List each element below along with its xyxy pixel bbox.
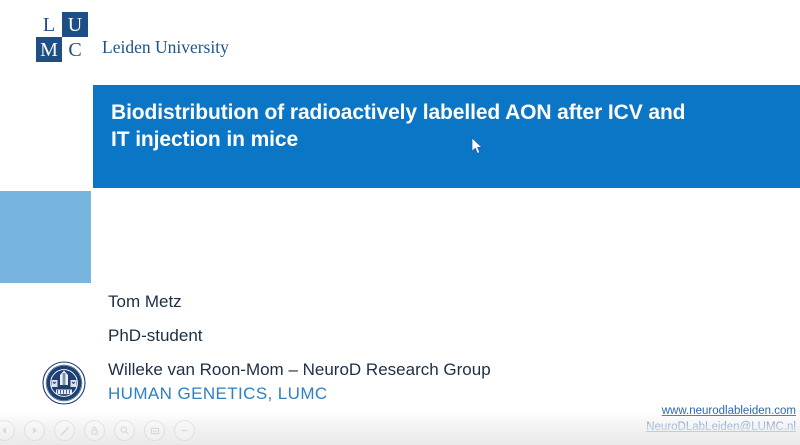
minus-icon xyxy=(179,425,190,436)
player-toolbar[interactable] xyxy=(0,420,195,441)
lumc-logo-mark: L U M C xyxy=(36,12,88,62)
presenter-block: Tom Metz PhD-student Willeke van Roon-Mo… xyxy=(108,293,708,402)
slide-title-line2: IT injection in mice xyxy=(111,126,778,153)
presenter-group: Willeke van Roon-Mom – NeuroD Research G… xyxy=(108,361,708,378)
stamp-button[interactable] xyxy=(84,420,105,441)
website-link[interactable]: www.neurodlableiden.com xyxy=(646,403,796,419)
slide-title-line1: Biodistribution of radioactively labelle… xyxy=(111,99,778,126)
slides-button[interactable] xyxy=(144,420,165,441)
accent-square xyxy=(0,191,91,283)
more-button[interactable] xyxy=(174,420,195,441)
play-button[interactable] xyxy=(24,420,45,441)
lumc-wordmark-line1: Leiden University xyxy=(102,36,229,58)
previous-button[interactable] xyxy=(0,420,15,441)
play-icon xyxy=(29,425,40,436)
presentation-icon xyxy=(149,425,161,437)
contact-links: www.neurodlableiden.com NeuroDLabLeiden@… xyxy=(646,403,796,436)
presenter-department: HUMAN GENETICS, LUMC xyxy=(108,385,708,402)
presentation-slide: L U M C Leiden University Medical Center… xyxy=(0,0,800,445)
pen-icon xyxy=(59,425,71,437)
draw-button[interactable] xyxy=(54,420,75,441)
presenter-name: Tom Metz xyxy=(108,293,708,310)
stamp-icon xyxy=(89,425,100,436)
lumc-letter-u: U xyxy=(62,12,88,37)
magnifier-icon xyxy=(119,425,130,436)
lumc-letter-m: M xyxy=(36,37,62,62)
leiden-university-seal-icon xyxy=(42,361,86,405)
email-link[interactable]: NeuroDLabLeiden@LUMC.nl xyxy=(646,419,796,435)
presenter-role: PhD-student xyxy=(108,327,708,344)
previous-icon xyxy=(0,425,10,436)
slide-title-banner: Biodistribution of radioactively labelle… xyxy=(93,85,800,188)
zoom-button[interactable] xyxy=(114,420,135,441)
lumc-letter-c: C xyxy=(62,37,88,62)
lumc-letter-l: L xyxy=(36,12,62,37)
